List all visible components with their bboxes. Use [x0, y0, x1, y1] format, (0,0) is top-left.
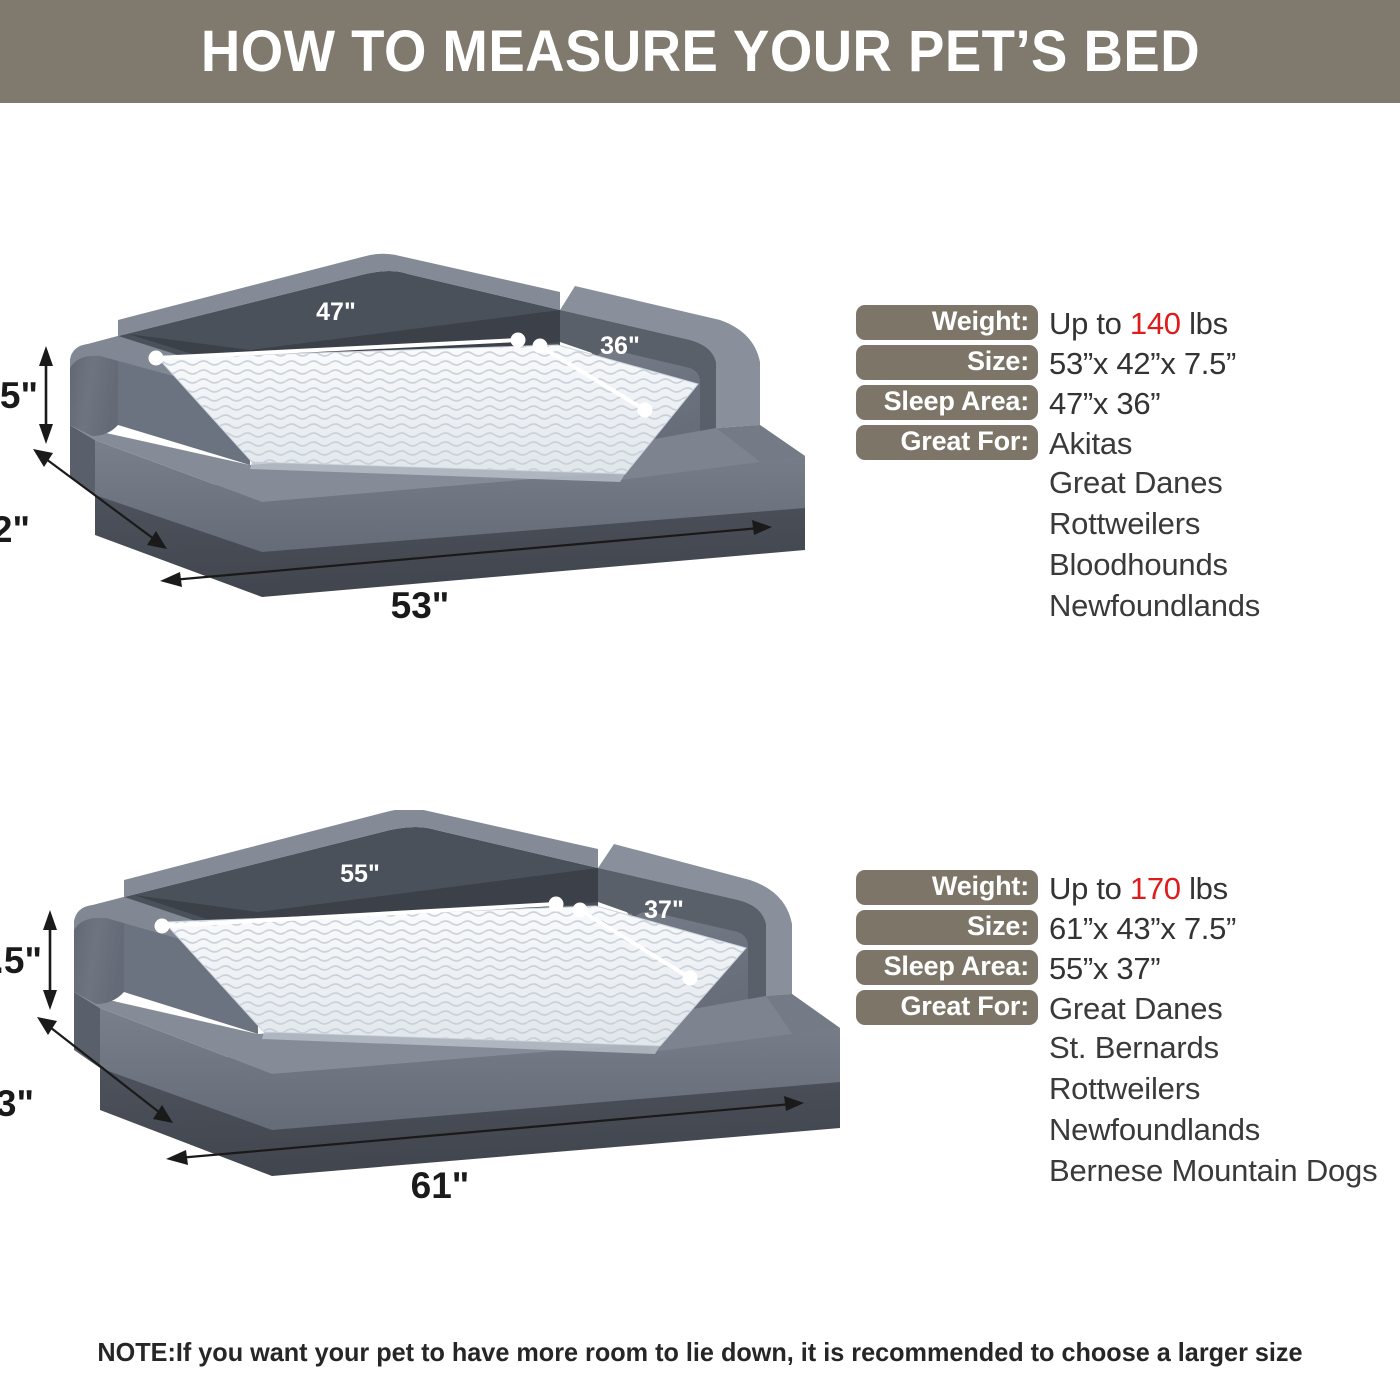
spec-value-size: 53”x 42”x 7.5”	[1049, 345, 1236, 382]
spec-label-size: Size:	[856, 910, 1038, 945]
spec-label-size: Size:	[856, 345, 1038, 380]
weight-suffix: lbs	[1181, 306, 1228, 341]
breed-item: Akitas	[1049, 425, 1260, 462]
dimension-width-label: 53"	[391, 585, 450, 626]
spec-panel-xlarge: Weight: Up to 170 lbs Size: 61”x 43”x 7.…	[856, 870, 1377, 1194]
header-banner: HOW TO MEASURE YOUR PET’S BED	[0, 0, 1400, 103]
weight-number: 170	[1130, 871, 1181, 906]
spec-label-sleep-area: Sleep Area:	[856, 950, 1038, 985]
weight-number: 140	[1130, 306, 1181, 341]
spec-label-great-for: Great For:	[856, 425, 1038, 460]
dimension-sleep-depth-label: 37"	[644, 896, 684, 924]
breed-list-xlarge: Great Danes St. Bernards Rottweilers New…	[1049, 990, 1377, 1191]
dimension-sleep-depth-label: 36"	[600, 332, 640, 360]
spec-value-sleep-area: 47”x 36”	[1049, 385, 1160, 422]
breed-item: Rottweilers	[1049, 503, 1260, 544]
spec-row-weight: Weight: Up to 170 lbs	[856, 870, 1377, 907]
breed-item: Rottweilers	[1049, 1068, 1377, 1109]
spec-value-weight: Up to 140 lbs	[1049, 305, 1228, 342]
weight-suffix: lbs	[1181, 871, 1228, 906]
spec-label-weight: Weight:	[856, 305, 1038, 340]
spec-row-great-for: Great For: Great Danes St. Bernards Rott…	[856, 990, 1377, 1191]
dimension-depth-label: 42"	[0, 509, 30, 550]
weight-prefix: Up to	[1049, 306, 1130, 341]
spec-value-weight: Up to 170 lbs	[1049, 870, 1228, 907]
breed-item: Newfoundlands	[1049, 1109, 1377, 1150]
dimension-height-label: 7.5"	[0, 940, 42, 981]
spec-value-sleep-area: 55”x 37”	[1049, 950, 1160, 987]
spec-value-size: 61”x 43”x 7.5”	[1049, 910, 1236, 947]
dimension-width-label: 61"	[411, 1165, 470, 1206]
dimension-height: 7.5"	[0, 910, 57, 1010]
breed-item: Bloodhounds	[1049, 544, 1260, 585]
spec-label-sleep-area: Sleep Area:	[856, 385, 1038, 420]
product-block-large: 7.5" 42" 53" 47" 36"	[0, 250, 1400, 680]
dimension-height: 7.5"	[0, 346, 53, 444]
breed-item: Great Danes	[1049, 462, 1260, 503]
product-block-xlarge: 7.5" 43" 61" 55" 37"	[0, 810, 1400, 1270]
breed-item: St. Bernards	[1049, 1027, 1377, 1068]
bed-illustration-large: 7.5" 42" 53" 47" 36"	[0, 250, 840, 670]
spec-label-weight: Weight:	[856, 870, 1038, 905]
spec-row-size: Size: 61”x 43”x 7.5”	[856, 910, 1377, 947]
weight-prefix: Up to	[1049, 871, 1130, 906]
dimension-height-label: 7.5"	[0, 375, 38, 416]
page-title: HOW TO MEASURE YOUR PET’S BED	[200, 18, 1199, 85]
dimension-sleep-width-label: 55"	[340, 860, 380, 888]
spec-row-sleep-area: Sleep Area: 55”x 37”	[856, 950, 1377, 987]
spec-panel-large: Weight: Up to 140 lbs Size: 53”x 42”x 7.…	[856, 305, 1260, 629]
spec-row-size: Size: 53”x 42”x 7.5”	[856, 345, 1260, 382]
spec-row-weight: Weight: Up to 140 lbs	[856, 305, 1260, 342]
breed-item: Great Danes	[1049, 990, 1377, 1027]
dimension-sleep-width-label: 47"	[316, 298, 356, 326]
breed-list-large: Akitas Great Danes Rottweilers Bloodhoun…	[1049, 425, 1260, 626]
spec-label-great-for: Great For:	[856, 990, 1038, 1025]
breed-item: Bernese Mountain Dogs	[1049, 1150, 1377, 1191]
footer-note: NOTE:If you want your pet to have more r…	[21, 1337, 1379, 1368]
dimension-depth-label: 43"	[0, 1083, 34, 1124]
bed-illustration-xlarge: 7.5" 43" 61" 55" 37"	[0, 810, 880, 1260]
spec-row-sleep-area: Sleep Area: 47”x 36”	[856, 385, 1260, 422]
breed-item: Newfoundlands	[1049, 585, 1260, 626]
spec-row-great-for: Great For: Akitas Great Danes Rottweiler…	[856, 425, 1260, 626]
